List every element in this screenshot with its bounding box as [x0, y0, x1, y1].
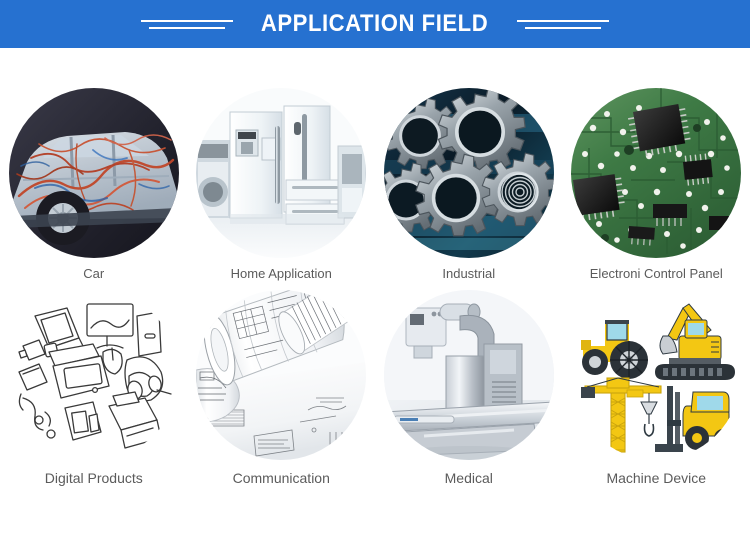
digital-products-line-art [9, 290, 179, 460]
application-item-home-application[interactable]: Home Application [188, 48, 376, 281]
rolled-blueprints-photo [196, 290, 366, 460]
pcb-circuit-board-photo [571, 88, 741, 258]
deco-line-top [141, 20, 233, 22]
application-item-machine-device[interactable]: Machine Device [563, 281, 750, 514]
application-item-medical[interactable]: Medical [375, 281, 563, 514]
application-item-label: Medical [445, 470, 493, 487]
car-wiring-harness-photo [9, 88, 179, 258]
application-item-label: Home Application [231, 266, 332, 282]
double-line-icon-left [141, 20, 233, 29]
application-item-car[interactable]: Car [0, 48, 188, 281]
double-line-icon-right [517, 20, 609, 29]
application-item-label: Electroni Control Panel [590, 266, 723, 282]
deco-line-bottom [525, 27, 601, 29]
application-item-electroni-control-panel[interactable]: Electroni Control Panel [563, 48, 750, 281]
industrial-gears-photo [384, 88, 554, 258]
page-header: APPLICATION FIELD [0, 0, 750, 48]
deco-line-bottom [149, 27, 225, 29]
application-item-digital-products[interactable]: Digital Products [0, 281, 188, 514]
application-field-grid: Car [0, 48, 750, 543]
application-item-label: Car [83, 266, 104, 282]
page-title: APPLICATION FIELD [261, 12, 488, 36]
application-item-label: Machine Device [606, 470, 706, 487]
construction-vehicles-illustration [571, 290, 741, 460]
application-item-industrial[interactable]: Industrial [375, 48, 563, 281]
application-item-communication[interactable]: Communication [188, 281, 376, 514]
application-item-label: Communication [233, 470, 330, 487]
application-item-label: Industrial [442, 266, 495, 282]
deco-line-top [517, 20, 609, 22]
application-item-label: Digital Products [45, 470, 143, 487]
medical-xray-machine-photo [384, 290, 554, 460]
home-appliances-refrigerator-photo [196, 88, 366, 258]
